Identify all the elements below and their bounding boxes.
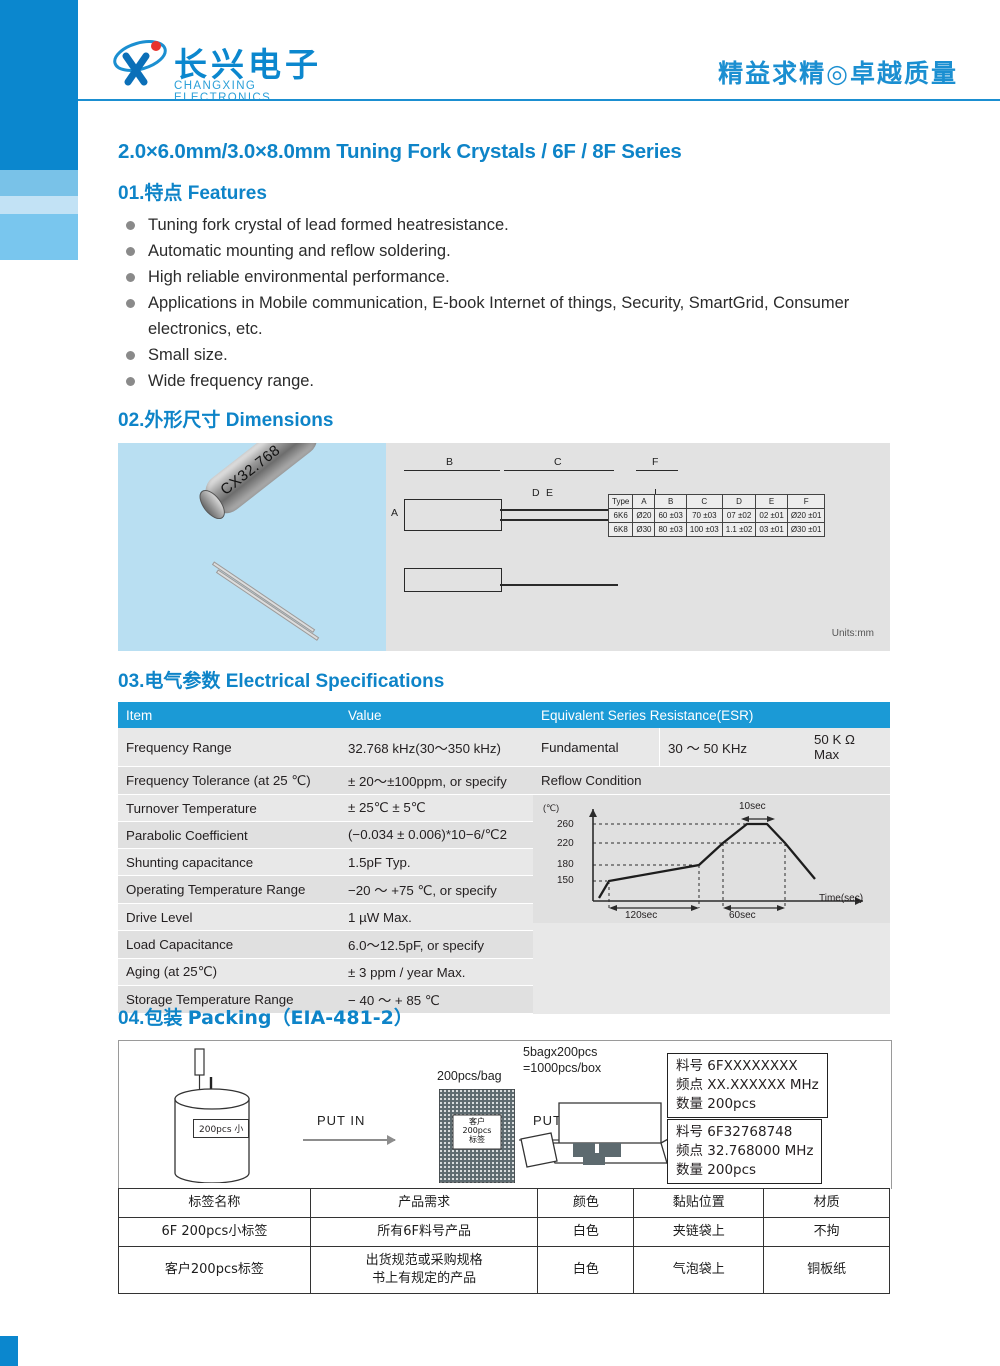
cell-a: Ø30 bbox=[633, 523, 655, 537]
cell-product-req: 出货规范或采购规格 书上有规定的产品 bbox=[310, 1247, 538, 1294]
cell-label-name: 客户200pcs标签 bbox=[119, 1247, 311, 1294]
col-c: C bbox=[686, 495, 722, 509]
crystal-body: CX32.768 bbox=[198, 443, 325, 521]
bullet-icon bbox=[126, 247, 135, 256]
ytick-180: 180 bbox=[557, 859, 574, 870]
section-cn: 电气参数 bbox=[144, 670, 220, 692]
lead-wire bbox=[216, 569, 319, 641]
list-item: Tuning fork crystal of lead formed heatr… bbox=[122, 212, 922, 238]
esr-max: 50 K Ω Max bbox=[806, 728, 890, 766]
section-cn: 特点 bbox=[144, 182, 182, 204]
dimensions-panel: CX32.768 B C F A D E Units:mm bbox=[118, 443, 890, 651]
reflow-title: Reflow Condition bbox=[533, 767, 890, 795]
chart-xlabel: Time(sec) bbox=[819, 893, 863, 904]
col-color: 颜色 bbox=[538, 1189, 634, 1218]
feature-text: Applications in Mobile communication, E-… bbox=[148, 294, 849, 338]
spec-item: Frequency Range bbox=[118, 728, 340, 767]
table-row: 6F 200pcs小标签 所有6F料号产品 白色 夹链袋上 不拘 bbox=[119, 1218, 890, 1247]
annotation-10sec: 10sec bbox=[739, 801, 766, 812]
section-num: 01. bbox=[118, 183, 144, 204]
label-part-no: 料号 6F32768748 bbox=[676, 1123, 813, 1142]
section-en: Packing（EIA-481-2） bbox=[188, 1007, 413, 1029]
dimensions-table: Type A B C D E F 6K6 Ø20 60 ±03 70 ±03 0… bbox=[608, 494, 825, 537]
label-part-no: 料号 6FXXXXXXXX bbox=[676, 1057, 819, 1076]
spec-value: 1.5pF Typ. bbox=[340, 849, 533, 876]
spec-item: Load Capacitance bbox=[118, 931, 340, 959]
col-type: Type bbox=[609, 495, 633, 509]
cell-c: 70 ±03 bbox=[686, 509, 722, 523]
spec-item: Aging (at 25℃) bbox=[118, 959, 340, 986]
esr-detail-cell: Fundamental 30 〜 50 KHz 50 K Ω Max bbox=[533, 728, 890, 767]
table-header-row: Type A B C D E F bbox=[609, 495, 825, 509]
reflow-chart-cell: (℃) 260 220 180 150 120sec 60sec 10sec T… bbox=[533, 795, 890, 1014]
cell-e: 03 ±01 bbox=[756, 523, 787, 537]
annotation-60sec: 60sec bbox=[729, 910, 756, 921]
list-item: High reliable environmental performance. bbox=[122, 264, 922, 290]
label-quantity: 数量 200pcs bbox=[676, 1161, 813, 1180]
col-material: 材质 bbox=[764, 1189, 890, 1218]
section-cn: 外形尺寸 bbox=[144, 409, 220, 431]
spec-value: 6.0〜12.5pF, or specify bbox=[340, 931, 533, 959]
section-num: 02. bbox=[118, 410, 144, 431]
drawing-body-top bbox=[404, 499, 502, 531]
packing-flow-panel: 200pcs 小 PUT IN 200pcs/bag 客户 200pcs 标签 … bbox=[118, 1040, 892, 1189]
dim-line-b bbox=[404, 470, 500, 471]
col-product-req: 产品需求 bbox=[310, 1189, 538, 1218]
spec-item: Frequency Tolerance (at 25 ℃) bbox=[118, 767, 340, 795]
section-heading-packing: 04.包装 Packing（EIA-481-2） bbox=[118, 1003, 413, 1030]
section-heading-electrical: 03.电气参数 Electrical Specifications bbox=[118, 666, 444, 693]
label-frequency: 频点 32.768000 MHz bbox=[676, 1142, 813, 1161]
list-item: Applications in Mobile communication, E-… bbox=[122, 290, 922, 342]
packing-jar-icon bbox=[159, 1047, 279, 1183]
packing-box-icon bbox=[511, 1081, 681, 1185]
left-accent-band-4 bbox=[0, 214, 78, 260]
cell-type: 6K8 bbox=[609, 523, 633, 537]
col-d: D bbox=[722, 495, 756, 509]
ytick-150: 150 bbox=[557, 875, 574, 886]
lead-wire bbox=[212, 561, 315, 633]
spec-item: Shunting capacitance bbox=[118, 849, 340, 876]
dim-label-f: F bbox=[652, 456, 658, 468]
label-box-template: 料号 6FXXXXXXXX 频点 XX.XXXXXX MHz 数量 200pcs bbox=[667, 1053, 828, 1118]
flow-arrow-1 bbox=[303, 1139, 395, 1141]
drawing-body-side bbox=[404, 568, 502, 592]
feature-text: Automatic mounting and reflow soldering. bbox=[148, 242, 451, 260]
cell-f: Ø30 ±01 bbox=[787, 523, 825, 537]
table-row: 6K6 Ø20 60 ±03 70 ±03 07 ±02 02 ±01 Ø20 … bbox=[609, 509, 825, 523]
box-caption-line2: =1000pcs/box bbox=[523, 1061, 601, 1075]
cell-color: 白色 bbox=[538, 1218, 634, 1247]
bag-label-line3: 标签 bbox=[455, 1135, 499, 1144]
cell-c: 100 ±03 bbox=[686, 523, 722, 537]
spec-item: Turnover Temperature bbox=[118, 795, 340, 822]
left-accent-band-2 bbox=[0, 170, 78, 196]
datasheet-page: 长兴电子 CHANGXING ELECTRONICS 精益求精◎卓越质量 2.0… bbox=[0, 0, 1000, 1366]
bag-label-line1: 客户 bbox=[455, 1117, 499, 1126]
spec-value: ± 3 ppm / year Max. bbox=[340, 959, 533, 986]
left-accent-bar bbox=[0, 0, 78, 170]
cell-d: 1.1 ±02 bbox=[722, 523, 756, 537]
cell-d: 07 ±02 bbox=[722, 509, 756, 523]
section-num: 03. bbox=[118, 671, 144, 692]
table-row: Turnover Temperature ± 25℃ ± 5℃ bbox=[118, 795, 890, 822]
spec-value: 32.768 kHz(30〜350 kHz) bbox=[340, 728, 533, 767]
cell-product-req: 所有6F料号产品 bbox=[310, 1218, 538, 1247]
spec-value: ± 25℃ ± 5℃ bbox=[340, 795, 533, 822]
spec-value: (−0.034 ± 0.006)*10−6/℃2 bbox=[340, 822, 533, 849]
col-f: F bbox=[787, 495, 825, 509]
reflow-profile-chart: (℃) 260 220 180 150 120sec 60sec 10sec T… bbox=[533, 795, 890, 923]
label-quantity: 数量 200pcs bbox=[676, 1095, 819, 1114]
features-list: Tuning fork crystal of lead formed heatr… bbox=[122, 212, 922, 394]
table-header-row: Item Value Equivalent Series Resistance(… bbox=[118, 702, 890, 728]
section-heading-dimensions: 02.外形尺寸 Dimensions bbox=[118, 405, 333, 432]
bag-label-text: 客户 200pcs 标签 bbox=[455, 1117, 499, 1144]
section-en: Dimensions bbox=[226, 410, 334, 431]
zipbag-label: 200pcs 小 bbox=[193, 1119, 249, 1138]
dim-label-e: E bbox=[546, 487, 553, 499]
col-position: 黏贴位置 bbox=[634, 1189, 764, 1218]
cell-a: Ø20 bbox=[633, 509, 655, 523]
bullet-icon bbox=[126, 351, 135, 360]
cell-type: 6K6 bbox=[609, 509, 633, 523]
col-value: Value bbox=[340, 702, 533, 728]
bullet-icon bbox=[126, 221, 135, 230]
spec-item: Parabolic Coefficient bbox=[118, 822, 340, 849]
cell-e: 02 ±01 bbox=[756, 509, 787, 523]
left-accent-band-3 bbox=[0, 196, 78, 214]
box-caption-line1: 5bagx200pcs bbox=[523, 1045, 597, 1059]
annotation-120sec: 120sec bbox=[625, 910, 657, 921]
section-heading-features: 01.特点 Features bbox=[118, 178, 267, 205]
col-e: E bbox=[756, 495, 787, 509]
section-num: 04. bbox=[118, 1008, 144, 1029]
feature-text: Tuning fork crystal of lead formed heatr… bbox=[148, 216, 509, 234]
table-row: 6K8 Ø30 80 ±03 100 ±03 1.1 ±02 03 ±01 Ø3… bbox=[609, 523, 825, 537]
electrical-spec-table: Item Value Equivalent Series Resistance(… bbox=[118, 702, 890, 1014]
spec-item: Operating Temperature Range bbox=[118, 876, 340, 904]
bag-caption: 200pcs/bag bbox=[437, 1069, 502, 1083]
dimension-drawing: B C F A D E Units:mm bbox=[386, 443, 890, 651]
label-box-example: 料号 6F32768748 频点 32.768000 MHz 数量 200pcs bbox=[667, 1119, 822, 1184]
logo-text-cn: 长兴电子 bbox=[174, 38, 322, 86]
table-header-row: 标签名称 产品需求 颜色 黏贴位置 材质 bbox=[119, 1189, 890, 1218]
cell-material: 不拘 bbox=[764, 1218, 890, 1247]
col-a: A bbox=[633, 495, 655, 509]
dim-line-f bbox=[636, 470, 678, 471]
spec-value: 1 µW Max. bbox=[340, 904, 533, 931]
section-en: Electrical Specifications bbox=[226, 671, 445, 692]
cell-b: 80 ±03 bbox=[655, 523, 686, 537]
packing-table: 标签名称 产品需求 颜色 黏贴位置 材质 6F 200pcs小标签 所有6F料号… bbox=[118, 1188, 890, 1294]
drawing-lead-side bbox=[500, 584, 618, 586]
cell-position: 夹链袋上 bbox=[634, 1218, 764, 1247]
col-b: B bbox=[655, 495, 686, 509]
list-item: Automatic mounting and reflow soldering. bbox=[122, 238, 922, 264]
feature-text: Wide frequency range. bbox=[148, 372, 314, 390]
feature-text: Small size. bbox=[148, 346, 228, 364]
dim-label-a: A bbox=[391, 507, 398, 519]
header-tagline: 精益求精◎卓越质量 bbox=[718, 54, 958, 90]
cell-position: 气泡袋上 bbox=[634, 1247, 764, 1294]
cell-color: 白色 bbox=[538, 1247, 634, 1294]
crystal-marking: CX32.768 bbox=[217, 443, 283, 499]
col-item: Item bbox=[118, 702, 340, 728]
label-frequency: 频点 XX.XXXXXX MHz bbox=[676, 1076, 819, 1095]
section-cn: 包装 bbox=[144, 1007, 182, 1029]
bullet-icon bbox=[126, 273, 135, 282]
page-title: 2.0×6.0mm/3.0×8.0mm Tuning Fork Crystals… bbox=[118, 140, 682, 164]
drawing-lead bbox=[500, 519, 614, 521]
section-en: Features bbox=[188, 183, 267, 204]
list-item: Small size. bbox=[122, 342, 922, 368]
table-row: 客户200pcs标签 出货规范或采购规格 书上有规定的产品 白色 气泡袋上 铜板… bbox=[119, 1247, 890, 1294]
cell-b: 60 ±03 bbox=[655, 509, 686, 523]
spec-item: Drive Level bbox=[118, 904, 340, 931]
col-label-name: 标签名称 bbox=[119, 1189, 311, 1218]
ytick-220: 220 bbox=[557, 838, 574, 849]
dim-label-d: D bbox=[532, 487, 540, 499]
product-photo: CX32.768 bbox=[118, 443, 386, 651]
units-note: Units:mm bbox=[832, 628, 874, 639]
ytick-260: 260 bbox=[557, 819, 574, 830]
cx-swoosh-logo-icon bbox=[112, 36, 172, 88]
col-esr: Equivalent Series Resistance(ESR) bbox=[533, 702, 890, 728]
cell-material: 铜板纸 bbox=[764, 1247, 890, 1294]
table-row: Frequency Tolerance (at 25 ℃) ± 20〜±100p… bbox=[118, 767, 890, 795]
list-item: Wide frequency range. bbox=[122, 368, 922, 394]
dim-label-c: C bbox=[554, 456, 562, 468]
table-row: Frequency Range 32.768 kHz(30〜350 kHz) F… bbox=[118, 728, 890, 767]
feature-text: High reliable environmental performance. bbox=[148, 268, 450, 286]
bag-label-line2: 200pcs bbox=[455, 1126, 499, 1135]
dim-label-b: B bbox=[446, 456, 453, 468]
spec-value: −20 〜 +75 ℃, or specify bbox=[340, 876, 533, 904]
esr-range: 30 〜 50 KHz bbox=[660, 728, 807, 766]
bottom-left-accent bbox=[0, 1336, 18, 1366]
cell-label-name: 6F 200pcs小标签 bbox=[119, 1218, 311, 1247]
bullet-icon bbox=[126, 299, 135, 308]
esr-mode: Fundamental bbox=[533, 728, 660, 766]
drawing-lead bbox=[500, 509, 614, 511]
cell-f: Ø20 ±01 bbox=[787, 509, 825, 523]
dim-line-c bbox=[504, 470, 614, 471]
company-logo: 长兴电子 CHANGXING ELECTRONICS bbox=[112, 34, 342, 96]
bullet-icon bbox=[126, 377, 135, 386]
step1-action-label: PUT IN bbox=[317, 1113, 365, 1128]
header-divider bbox=[78, 99, 1000, 101]
chart-ylabel: (℃) bbox=[543, 803, 559, 814]
spec-value: ± 20〜±100ppm, or specify bbox=[340, 767, 533, 795]
